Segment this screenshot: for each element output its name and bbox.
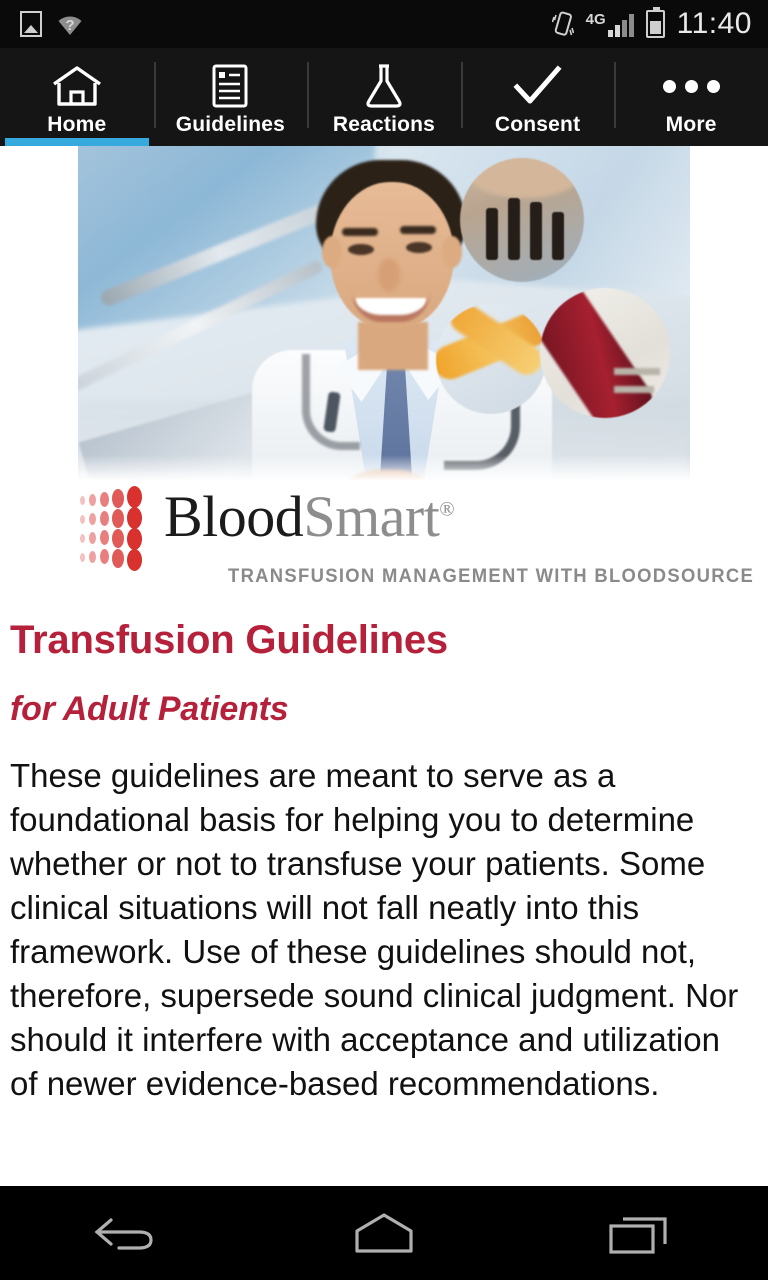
page-title: Transfusion Guidelines xyxy=(10,618,448,663)
tab-reactions[interactable]: Reactions xyxy=(307,48,461,146)
logo-tagline: TRANSFUSION MANAGEMENT WITH BLOODSOURCE xyxy=(228,566,754,588)
android-nav-bar xyxy=(0,1186,768,1280)
tab-reactions-label: Reactions xyxy=(333,113,435,137)
network-type-label: 4G xyxy=(586,12,606,27)
recents-button[interactable] xyxy=(512,1186,768,1280)
home-icon xyxy=(50,63,104,109)
signal-bars-icon: 4G xyxy=(586,12,634,37)
recents-icon xyxy=(603,1208,677,1258)
vibrate-icon xyxy=(552,10,574,38)
status-bar-left: ? xyxy=(0,11,84,37)
registered-mark: ® xyxy=(439,499,454,521)
tab-more-label: More xyxy=(666,113,717,137)
flask-icon xyxy=(362,63,406,109)
logo-word-smart: Smart xyxy=(303,484,439,549)
top-tab-bar: Home Guidelines Reactions xyxy=(0,48,768,146)
tab-consent[interactable]: Consent xyxy=(461,48,615,146)
home-outline-icon xyxy=(344,1207,424,1259)
tab-guidelines[interactable]: Guidelines xyxy=(154,48,308,146)
tab-more[interactable]: More xyxy=(614,48,768,146)
blood-bag-photo xyxy=(540,288,670,418)
check-icon xyxy=(512,63,564,109)
back-button[interactable] xyxy=(0,1186,256,1280)
tab-guidelines-label: Guidelines xyxy=(176,113,285,137)
tab-home-label: Home xyxy=(47,113,106,137)
bloodsmart-wordmark: BloodSmart® xyxy=(164,488,454,546)
article-content[interactable]: BloodSmart® TRANSFUSION MANAGEMENT WITH … xyxy=(0,146,768,1186)
home-button[interactable] xyxy=(256,1186,512,1280)
logo-word-blood: Blood xyxy=(164,484,303,549)
status-bar-right: 4G 11:40 xyxy=(552,7,768,41)
document-icon xyxy=(209,63,251,109)
test-tubes-photo xyxy=(460,158,584,282)
gallery-icon xyxy=(20,11,42,37)
page-subtitle: for Adult Patients xyxy=(10,690,288,729)
battery-icon xyxy=(646,10,665,38)
ellipsis-icon xyxy=(663,63,720,109)
plasma-bag-photo xyxy=(436,304,546,414)
tab-consent-label: Consent xyxy=(495,113,580,137)
bloodsmart-logo: BloodSmart® TRANSFUSION MANAGEMENT WITH … xyxy=(78,482,698,574)
tab-home[interactable]: Home xyxy=(0,48,154,146)
bloodsmart-logo-mark xyxy=(80,486,142,574)
svg-text:?: ? xyxy=(65,17,74,34)
phone-screen: ? 4G 11:40 xyxy=(0,0,768,1280)
wifi-question-icon: ? xyxy=(56,12,84,36)
article-body: These guidelines are meant to serve as a… xyxy=(10,754,750,1106)
status-bar-clock: 11:40 xyxy=(677,7,752,41)
hero-image xyxy=(78,146,690,481)
status-bar: ? 4G 11:40 xyxy=(0,0,768,48)
back-arrow-icon xyxy=(91,1210,165,1256)
